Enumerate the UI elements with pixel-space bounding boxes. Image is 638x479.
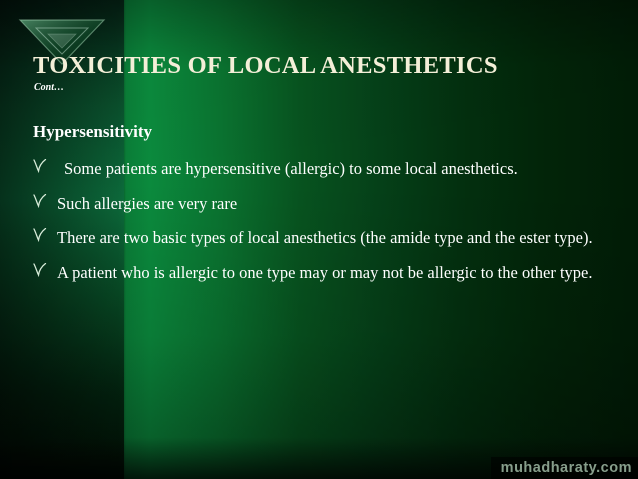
list-item: A patient who is allergic to one type ma… — [33, 260, 613, 286]
list-item-text: A patient who is allergic to one type ma… — [57, 260, 613, 286]
slide-body: Hypersensitivity Some patients are hyper… — [33, 122, 613, 294]
checkmark-bullet-icon — [33, 156, 57, 177]
continuation-note: Cont… — [34, 82, 64, 93]
page-title: TOXICITIES OF LOCAL ANESTHETICS — [33, 52, 613, 80]
list-item-text: Some patients are hypersensitive (allerg… — [57, 156, 613, 182]
list-item-text: There are two basic types of local anest… — [57, 225, 613, 251]
subheading: Hypersensitivity — [33, 122, 613, 142]
checkmark-bullet-icon — [33, 260, 57, 281]
watermark-text: muhadharaty.com — [501, 460, 632, 476]
checkmark-bullet-icon — [33, 191, 57, 212]
list-item-label: Some patients are hypersensitive (allerg… — [64, 159, 518, 178]
checkmark-bullet-icon — [33, 225, 57, 246]
watermark: muhadharaty.com — [491, 457, 638, 479]
list-item: Some patients are hypersensitive (allerg… — [33, 156, 613, 182]
slide-canvas: TOXICITIES OF LOCAL ANESTHETICS Cont… Hy… — [0, 0, 638, 479]
list-item-text: Such allergies are very rare — [57, 191, 613, 217]
list-item: There are two basic types of local anest… — [33, 225, 613, 251]
list-item: Such allergies are very rare — [33, 191, 613, 217]
